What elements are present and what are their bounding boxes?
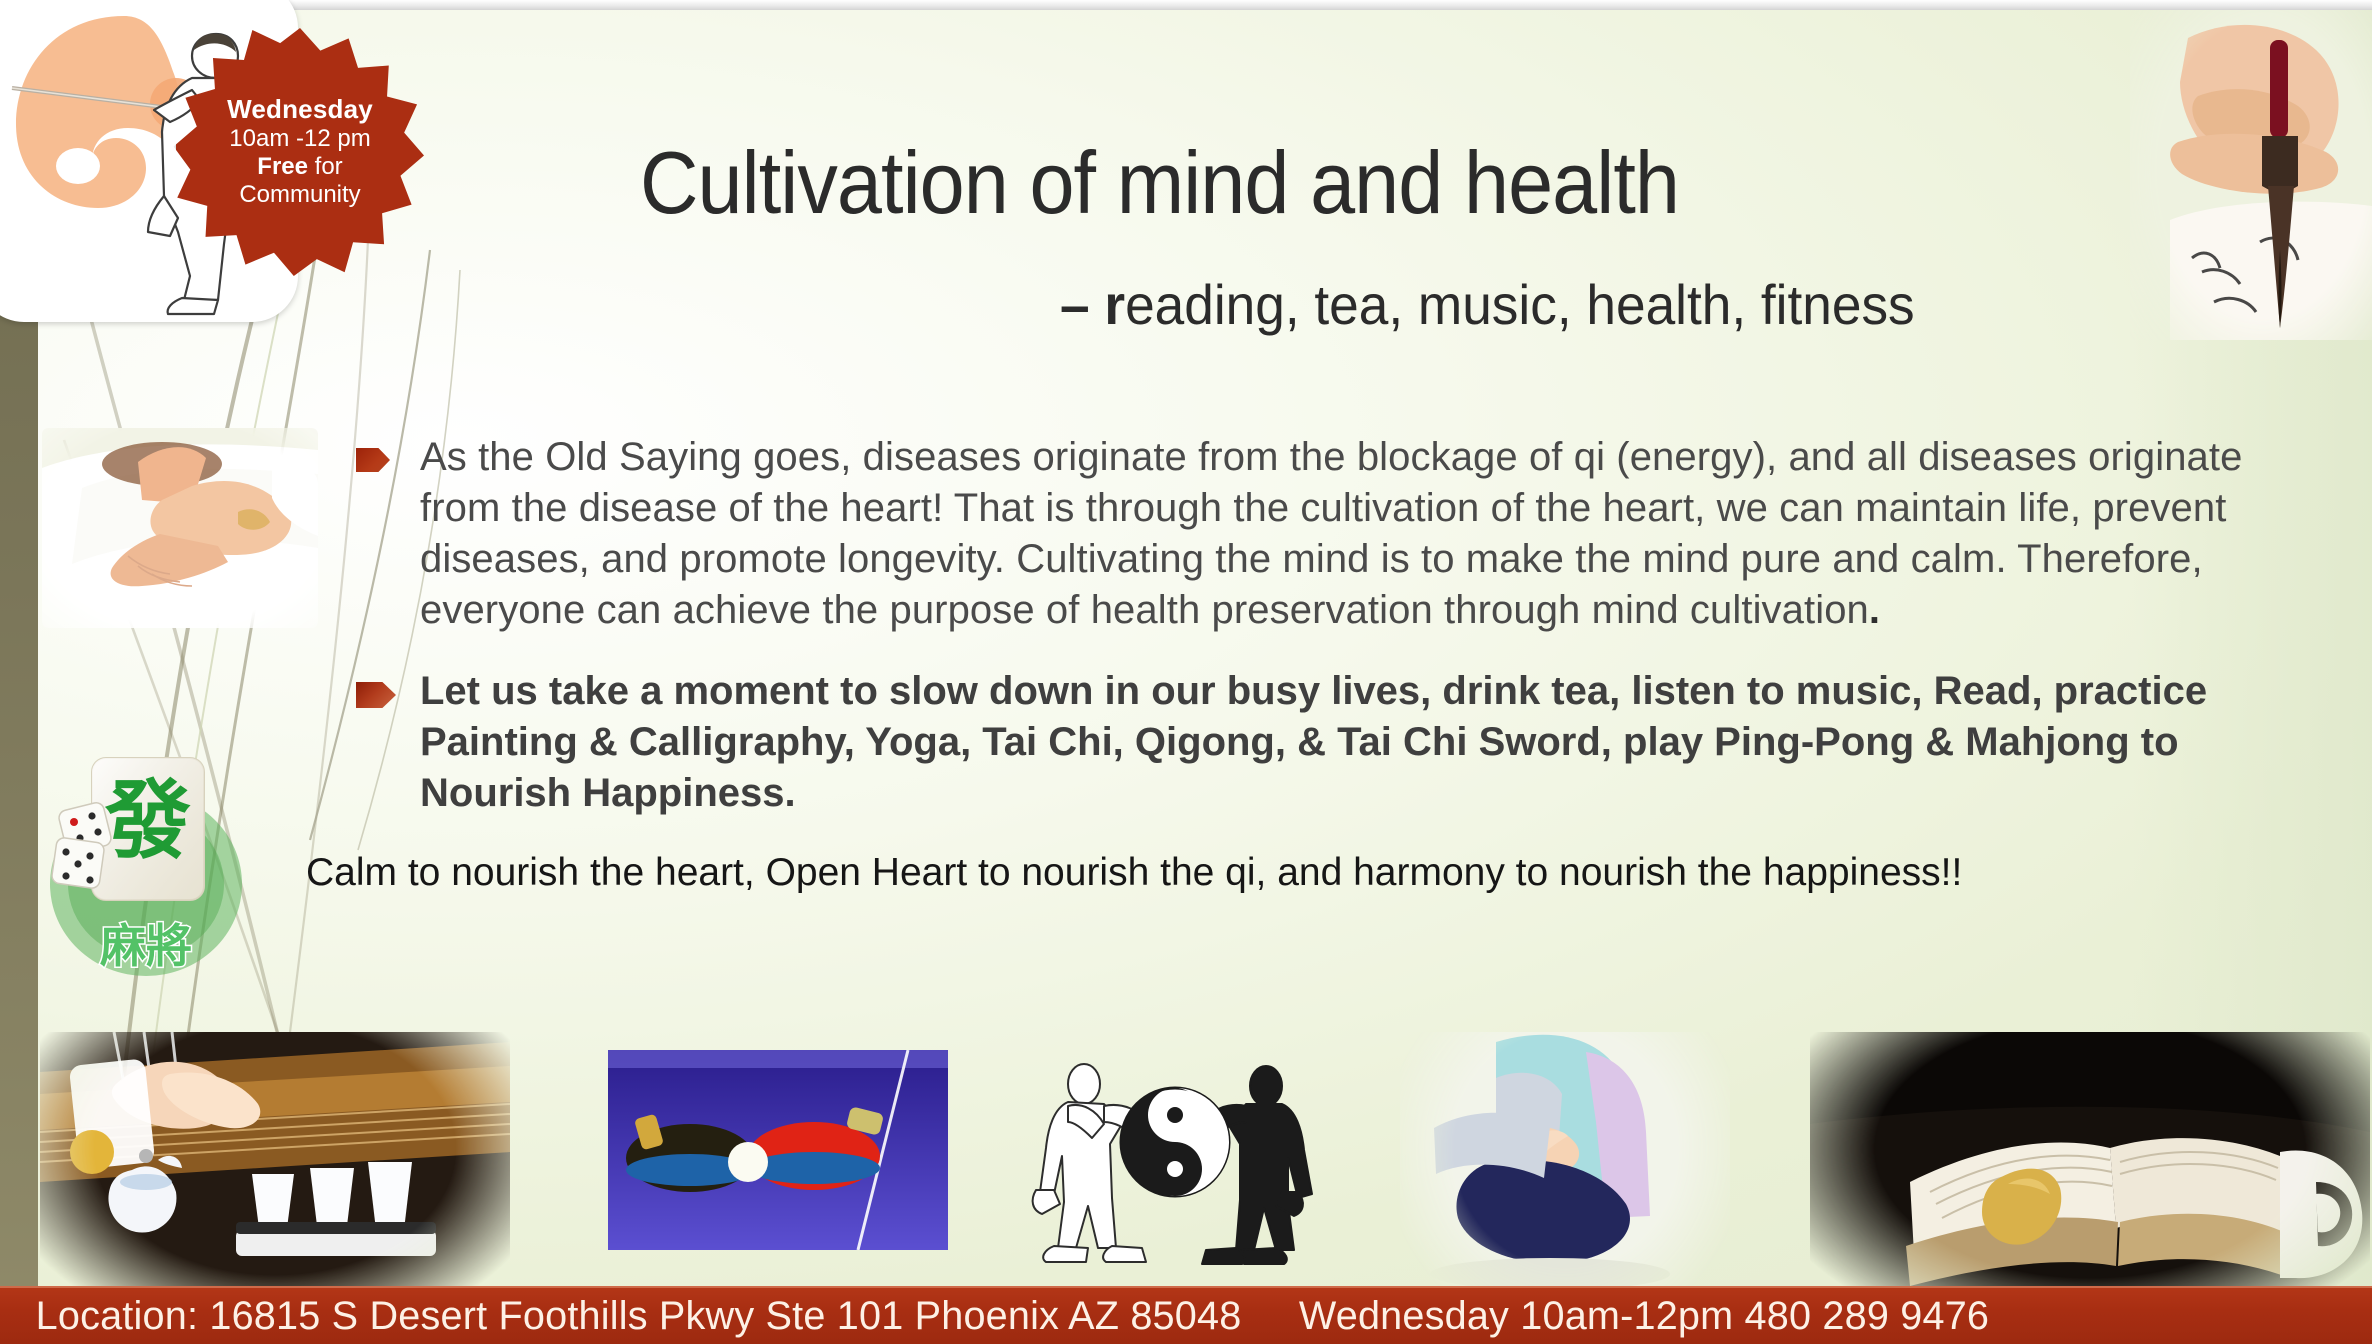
paragraph-2-row: Let us take a moment to slow down in our… xyxy=(352,666,2322,819)
mahjong-label-character: 麻將 xyxy=(100,919,192,973)
mahjong-tile-character: 發 xyxy=(104,771,191,871)
tai-chi-yinyang-icon xyxy=(1030,1052,1320,1267)
schedule-badge: Wednesday 10am -12 pm Free for Community xyxy=(176,28,424,276)
yoga-meditation-photo xyxy=(1400,1032,1730,1286)
badge-day: Wednesday xyxy=(227,94,373,125)
page-title: Cultivation of mind and health xyxy=(640,132,1679,234)
badge-price: Free for xyxy=(257,153,342,181)
footer-location-bar: Location: 16815 S Desert Foothills Pkwy … xyxy=(0,1286,2372,1344)
massage-hands-illustration xyxy=(42,428,318,628)
paragraph-1: As the Old Saying goes, diseases origina… xyxy=(420,432,2322,636)
top-hairline xyxy=(0,0,2372,10)
subtitle-dash: – xyxy=(1060,273,1104,336)
subtitle-lead-letter: r xyxy=(1104,273,1125,336)
paragraph-1-period: . xyxy=(1869,588,1880,632)
guzheng-tea-photo xyxy=(40,1032,510,1286)
badge-text-group: Wednesday 10am -12 pm Free for Community xyxy=(176,28,424,276)
paragraph-3: Calm to nourish the heart, Open Heart to… xyxy=(306,849,2322,897)
badge-time: 10am -12 pm xyxy=(229,125,370,153)
subtitle-rest: eading, tea, music, health, fitness xyxy=(1125,273,1915,336)
mahjong-tile-illustration: 發 麻將 xyxy=(34,744,242,982)
footer-schedule: Wednesday 10am-12pm 480 289 9476 xyxy=(1299,1294,1989,1338)
slide-canvas: Wednesday 10am -12 pm Free for Community… xyxy=(0,0,2372,1344)
badge-for-label: for xyxy=(308,153,343,180)
yoga-meditation-illustration xyxy=(1400,1032,1730,1286)
badge-audience: Community xyxy=(239,181,360,209)
footer-text-group: Location: 16815 S Desert Foothills Pkwy … xyxy=(0,1294,1989,1339)
massage-hands-photo xyxy=(42,428,318,628)
calligraphy-brush-photo xyxy=(2130,10,2372,340)
calligraphy-brush-illustration xyxy=(2130,10,2372,340)
badge-free-label: Free xyxy=(257,153,308,180)
open-book-photo xyxy=(1810,1032,2370,1286)
body-content: As the Old Saying goes, diseases origina… xyxy=(352,432,2322,897)
footer-location: Location: 16815 S Desert Foothills Pkwy … xyxy=(36,1294,1242,1338)
paragraph-1-text: As the Old Saying goes, diseases origina… xyxy=(420,435,2242,632)
arrow-bullet-icon xyxy=(356,682,396,708)
paragraph-2: Let us take a moment to slow down in our… xyxy=(420,666,2322,819)
ping-pong-photo xyxy=(608,1050,948,1250)
bottom-photo-strip xyxy=(0,1032,2372,1286)
open-book-illustration xyxy=(1810,1032,2370,1286)
guzheng-tea-illustration xyxy=(40,1032,510,1286)
paragraph-1-row: As the Old Saying goes, diseases origina… xyxy=(352,432,2322,636)
arrow-bullet-icon xyxy=(356,448,390,472)
page-subtitle: – reading, tea, music, health, fitness xyxy=(1060,272,1915,337)
ping-pong-illustration xyxy=(608,1050,948,1250)
tai-chi-figures-illustration xyxy=(1030,1052,1320,1267)
mahjong-tile-photo: 發 麻將 xyxy=(34,744,242,982)
